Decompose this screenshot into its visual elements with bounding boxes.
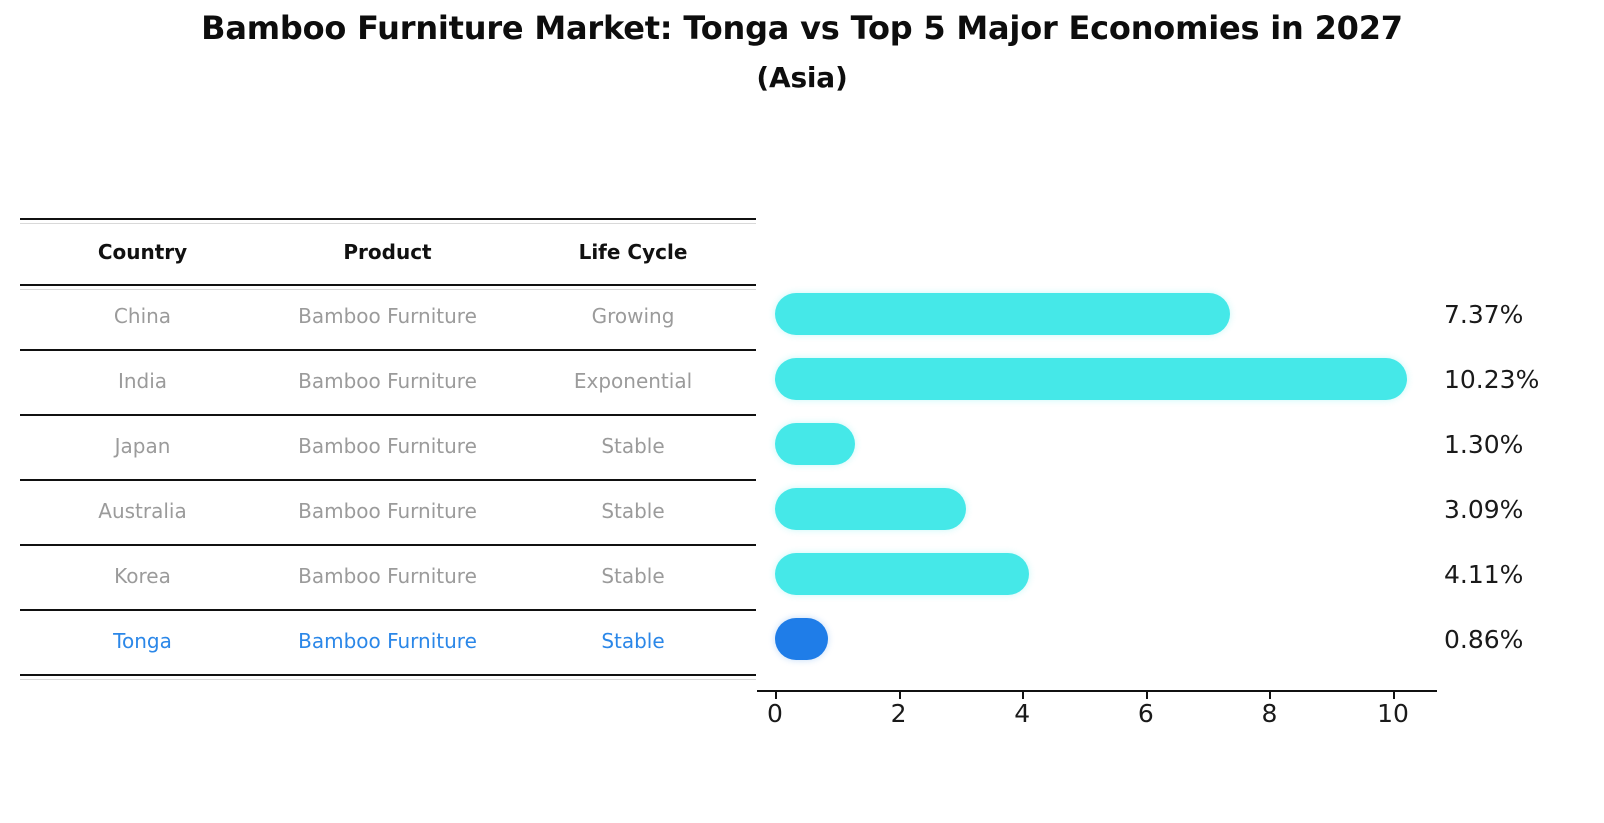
cell-product: Bamboo Furniture [265, 304, 510, 328]
cell-country: Korea [20, 564, 265, 588]
bar-value-label-india: 10.23% [1444, 367, 1539, 392]
table-rule-bottom [20, 674, 756, 676]
bar-tonga[interactable] [775, 618, 828, 660]
x-axis-tick-label: 8 [1239, 700, 1299, 728]
table-row[interactable]: Japan Bamboo Furniture Stable [20, 414, 756, 478]
table-row[interactable]: China Bamboo Furniture Growing [20, 284, 756, 348]
title-line-sub: (Asia) [0, 64, 1604, 92]
column-header-country: Country [20, 240, 265, 264]
cell-product: Bamboo Furniture [265, 434, 510, 458]
cell-country: Tonga [20, 629, 265, 653]
cell-product: Bamboo Furniture [265, 629, 510, 653]
chart-page: Bamboo Furniture Market: Tonga vs Top 5 … [0, 0, 1604, 823]
table-row-highlighted[interactable]: Tonga Bamboo Furniture Stable [20, 609, 756, 673]
cell-life-cycle: Stable [510, 499, 756, 523]
bar-korea[interactable] [775, 553, 1029, 595]
column-header-product: Product [265, 240, 510, 264]
x-axis-tick-label: 4 [992, 700, 1052, 728]
cell-country: India [20, 369, 265, 393]
cell-product: Bamboo Furniture [265, 369, 510, 393]
x-axis-line [757, 690, 1437, 692]
column-header-life-cycle: Life Cycle [510, 240, 756, 264]
cell-life-cycle: Exponential [510, 369, 756, 393]
bar-value-label-australia: 3.09% [1444, 497, 1523, 522]
x-axis-tick-label: 0 [745, 700, 805, 728]
bar-value-label-tonga: 0.86% [1444, 627, 1523, 652]
bar-value-label-japan: 1.30% [1444, 432, 1523, 457]
bar-japan[interactable] [775, 423, 855, 465]
bar-india[interactable] [775, 358, 1407, 400]
x-axis-tick [775, 690, 777, 699]
table-rule-bottom-thin [20, 679, 756, 680]
cell-product: Bamboo Furniture [265, 499, 510, 523]
x-axis-tick [1393, 690, 1395, 699]
table-row[interactable]: Korea Bamboo Furniture Stable [20, 544, 756, 608]
x-axis-tick [1022, 690, 1024, 699]
cell-country: Australia [20, 499, 265, 523]
cell-product: Bamboo Furniture [265, 564, 510, 588]
cell-country: China [20, 304, 265, 328]
table-header-row: Country Product Life Cycle [20, 220, 756, 284]
cell-life-cycle: Growing [510, 304, 756, 328]
table-row[interactable]: Australia Bamboo Furniture Stable [20, 479, 756, 543]
bar-value-label-china: 7.37% [1444, 302, 1523, 327]
x-axis-tick-label: 6 [1116, 700, 1176, 728]
title-line-main: Bamboo Furniture Market: Tonga vs Top 5 … [0, 12, 1604, 44]
table-row[interactable]: India Bamboo Furniture Exponential [20, 349, 756, 413]
bar-australia[interactable] [775, 488, 966, 530]
x-axis-tick [1146, 690, 1148, 699]
cell-country: Japan [20, 434, 265, 458]
x-axis-tick-label: 2 [869, 700, 929, 728]
country-table: Country Product Life Cycle China Bamboo … [20, 218, 756, 690]
x-axis-tick [1269, 690, 1271, 699]
cell-life-cycle: Stable [510, 629, 756, 653]
x-axis-tick-label: 10 [1363, 700, 1423, 728]
bar-value-label-korea: 4.11% [1444, 562, 1523, 587]
page-title: Bamboo Furniture Market: Tonga vs Top 5 … [0, 12, 1604, 92]
cell-life-cycle: Stable [510, 434, 756, 458]
bar-china[interactable] [775, 293, 1230, 335]
cell-life-cycle: Stable [510, 564, 756, 588]
x-axis-tick [899, 690, 901, 699]
